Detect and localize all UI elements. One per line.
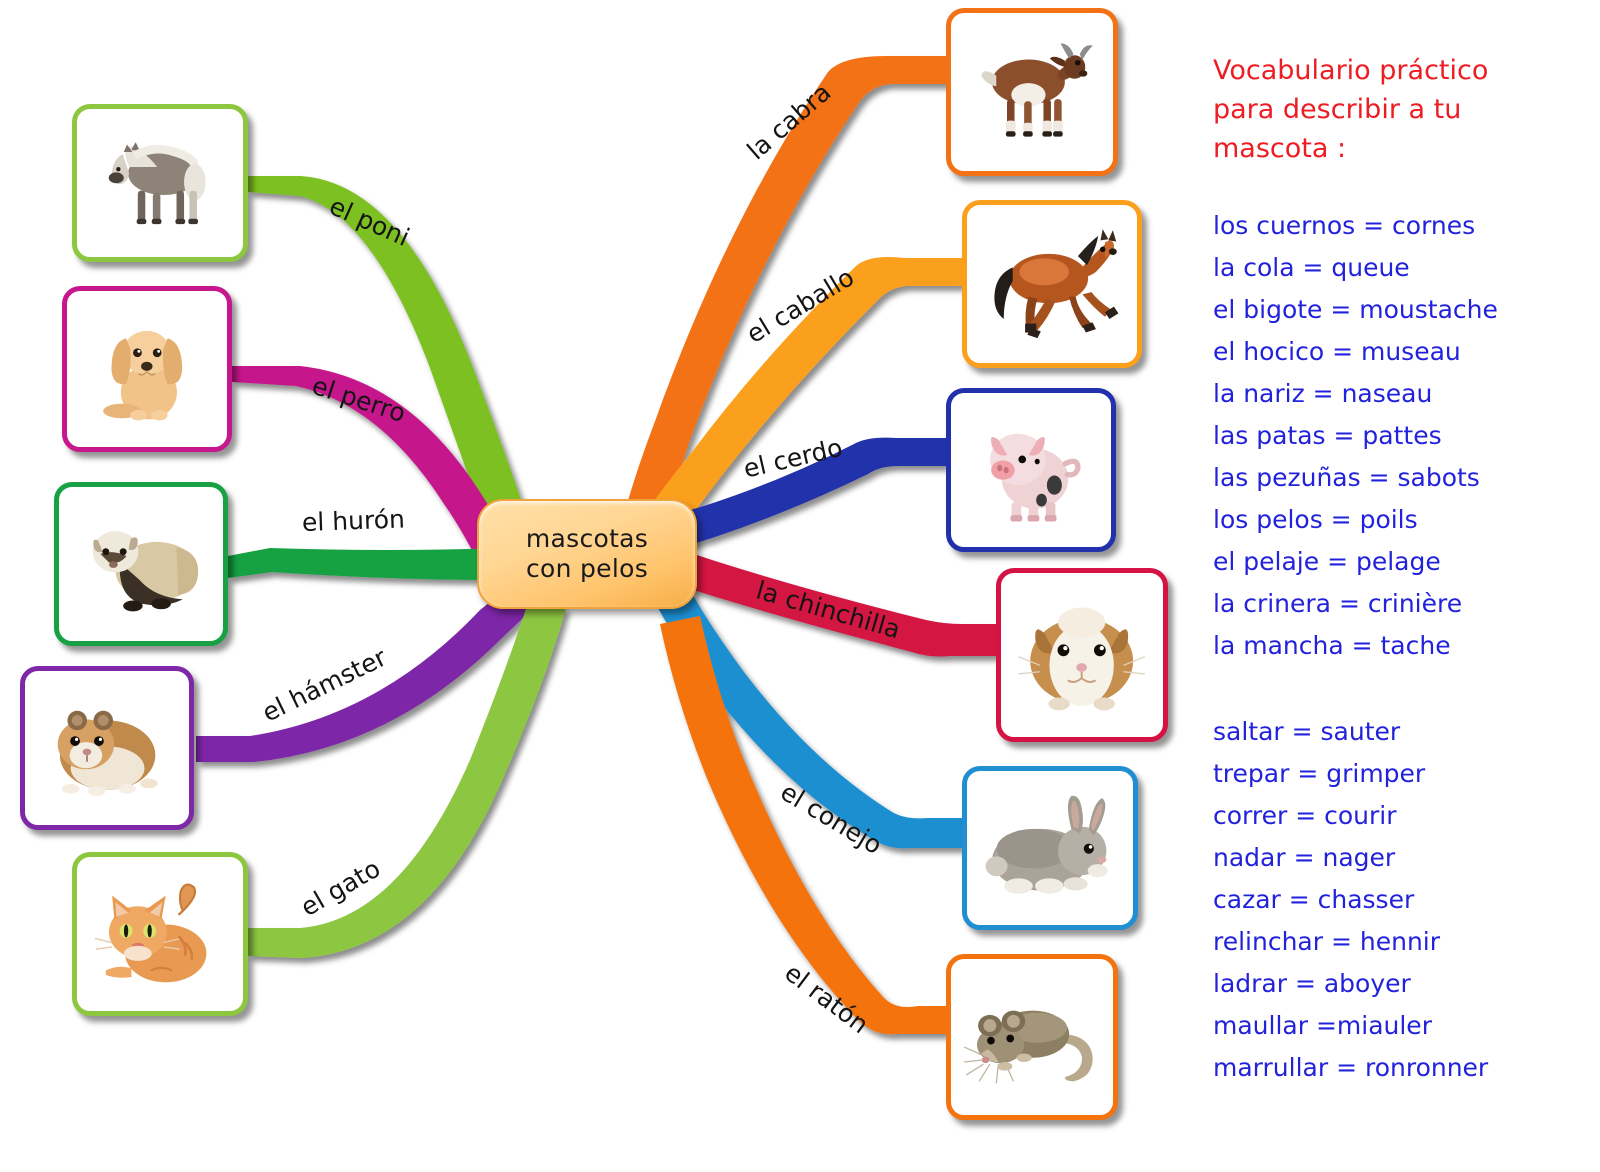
branch-label-poni[interactable]: el poni	[325, 191, 414, 252]
vocab-noun-item: el bigote = moustache	[1213, 289, 1593, 331]
vocab-noun-item: los cuernos = cornes	[1213, 205, 1593, 247]
animal-card-chinchilla[interactable]	[996, 568, 1168, 742]
vocab-noun-item: la crinera = crinière	[1213, 583, 1593, 625]
mouse-image	[962, 975, 1101, 1100]
branch-label-cabra[interactable]: la cabra	[741, 77, 836, 165]
vocab-noun-item: las patas = pattes	[1213, 415, 1593, 457]
branch-label-perro[interactable]: el perro	[309, 371, 410, 428]
vocab-title-line-3: mascota :	[1213, 130, 1593, 169]
branch-label-raton[interactable]: el ratón	[779, 958, 874, 1039]
branch-label-chinchilla[interactable]: la chinchilla	[753, 576, 904, 645]
vocab-noun-item: el pelaje = pelage	[1213, 541, 1593, 583]
branch-label-huron[interactable]: el hurón	[301, 504, 405, 537]
vocab-noun-item: los pelos = poils	[1213, 499, 1593, 541]
vocab-verb-item: nadar = nager	[1213, 837, 1593, 879]
hamster-image	[36, 686, 177, 809]
vocab-noun-item: la nariz = naseau	[1213, 373, 1593, 415]
vocab-spacer-2	[1213, 667, 1593, 711]
horse-image	[979, 221, 1125, 347]
vocab-verb-item: marrullar = ronronner	[1213, 1047, 1593, 1089]
vocab-title-line-1: Vocabulario práctico	[1213, 52, 1593, 91]
vocabulary-panel: Vocabulario práctico para describir a tu…	[1213, 52, 1593, 1089]
vocab-verb-item: relinchar = hennir	[1213, 921, 1593, 963]
vocab-noun-item: la cola = queue	[1213, 247, 1593, 289]
vocab-title-line-2: para describir a tu	[1213, 91, 1593, 130]
vocab-verb-item: saltar = sauter	[1213, 711, 1593, 753]
vocab-verb-item: ladrar = aboyer	[1213, 963, 1593, 1005]
vocab-spacer-1	[1213, 169, 1593, 205]
animal-card-pig[interactable]	[946, 388, 1116, 552]
pig-image	[962, 408, 1100, 531]
central-node-line2: con pelos	[526, 554, 648, 585]
animal-card-horse[interactable]	[962, 200, 1142, 368]
animal-card-ferret[interactable]	[54, 482, 228, 646]
cat-image	[89, 872, 232, 995]
goat-image	[962, 29, 1101, 155]
branch-label-conejo[interactable]: el conejo	[776, 777, 888, 860]
ferret-image	[70, 502, 211, 625]
mindmap-canvas: mascotas con pelos el poni el perro el h…	[0, 0, 1600, 1172]
vocab-noun-item: el hocico = museau	[1213, 331, 1593, 373]
chinchilla-image	[1012, 589, 1151, 720]
vocab-verb-item: maullar =miauler	[1213, 1005, 1593, 1047]
animal-card-mouse[interactable]	[946, 954, 1118, 1120]
vocab-noun-item: las pezuñas = sabots	[1213, 457, 1593, 499]
animal-card-cat[interactable]	[72, 852, 248, 1016]
branch-label-cerdo[interactable]: el cerdo	[741, 433, 845, 484]
animal-card-dog[interactable]	[62, 286, 232, 452]
animal-card-goat[interactable]	[946, 8, 1118, 176]
rabbit-image	[979, 786, 1122, 909]
animal-card-pony[interactable]	[72, 104, 248, 262]
vocab-verb-item: trepar = grimper	[1213, 753, 1593, 795]
central-node-line1: mascotas	[526, 524, 648, 555]
dog-image	[78, 307, 216, 432]
branch-label-hamster[interactable]: el hámster	[258, 643, 391, 728]
animal-card-rabbit[interactable]	[962, 766, 1138, 930]
vocab-noun-item: la mancha = tache	[1213, 625, 1593, 667]
branch-path-gato	[248, 596, 566, 958]
vocab-verb-item: cazar = chasser	[1213, 879, 1593, 921]
vocab-verb-item: correr = courir	[1213, 795, 1593, 837]
central-node[interactable]: mascotas con pelos	[477, 499, 697, 609]
branch-label-caballo[interactable]: el caballo	[742, 262, 860, 349]
animal-card-hamster[interactable]	[20, 666, 194, 830]
branch-label-gato[interactable]: el gato	[296, 854, 385, 922]
pony-image	[89, 124, 232, 242]
